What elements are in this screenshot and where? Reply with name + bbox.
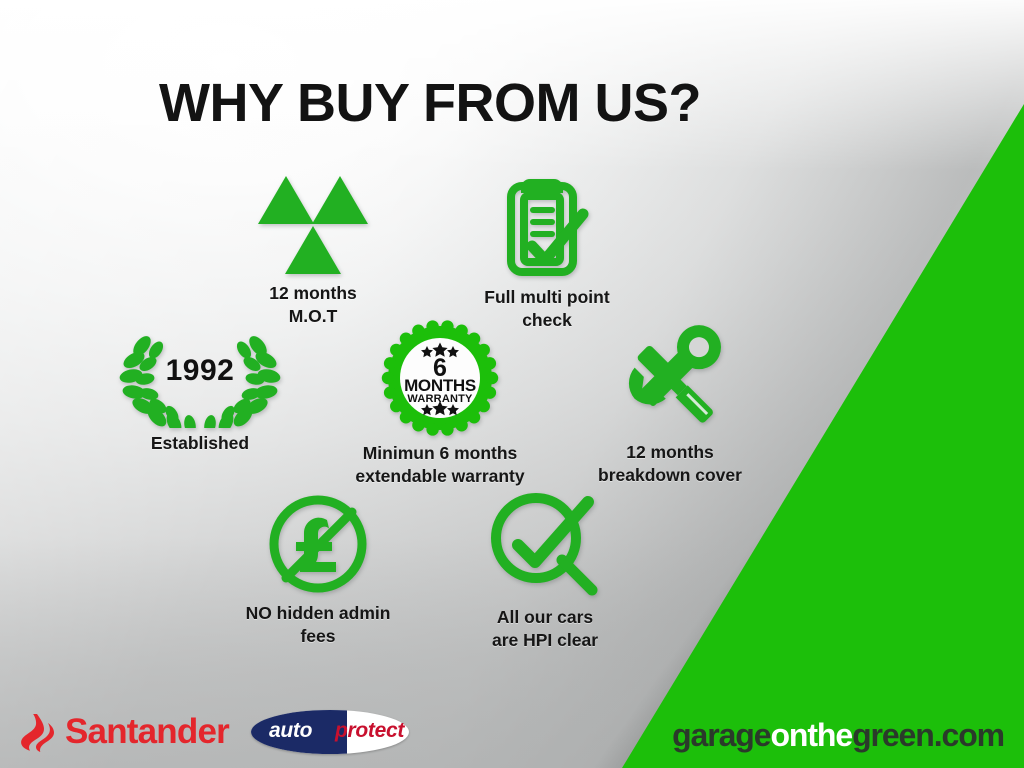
laurel-wreath-icon: 1992 bbox=[110, 328, 290, 428]
caption-line-1: Minimun 6 months bbox=[330, 442, 550, 465]
feature-hpi-clear: All our cars are HPI clear bbox=[450, 490, 640, 652]
santander-logo: Santander bbox=[16, 712, 229, 752]
feature-no-admin-fees-caption: NO hidden admin fees bbox=[218, 602, 418, 648]
page-title: WHY BUY FROM US? bbox=[0, 72, 860, 134]
website-part-green: green.com bbox=[852, 717, 1004, 753]
caption-line-1: All our cars bbox=[450, 606, 640, 629]
clipboard-check-icon bbox=[452, 174, 642, 282]
autoprotect-protect-text: protect bbox=[335, 719, 404, 743]
no-pound-fees-icon bbox=[218, 490, 418, 598]
feature-multi-point-check: Full multi point check bbox=[452, 174, 642, 332]
caption-line-1: 12 months bbox=[223, 282, 403, 305]
website-part-onthe: onthe bbox=[770, 717, 852, 753]
badge-word: WARRANTY bbox=[407, 393, 473, 405]
feature-breakdown-cover-caption: 12 months breakdown cover bbox=[560, 441, 780, 487]
caption-line-2: breakdown cover bbox=[560, 464, 780, 487]
feature-established: 1992 Established bbox=[110, 328, 290, 455]
circle-check-icon bbox=[450, 490, 640, 602]
santander-wordmark: Santander bbox=[65, 712, 229, 752]
feature-warranty: 6 MONTHS WARRANTY Minimun 6 months exten… bbox=[330, 318, 550, 488]
feature-breakdown-cover: 12 months breakdown cover bbox=[560, 322, 780, 487]
caption-line-2: extendable warranty bbox=[330, 465, 550, 488]
caption-line-1: Full multi point bbox=[452, 286, 642, 309]
autoprotect-logo: auto protect bbox=[251, 710, 409, 754]
wrench-screwdriver-icon bbox=[560, 322, 780, 437]
caption-line-1: Established bbox=[110, 432, 290, 455]
caption-line-1: 12 months bbox=[560, 441, 780, 464]
poster-canvas: WHY BUY FROM US? 12 months M.O.T bbox=[0, 0, 1024, 768]
website-part-garage: garage bbox=[672, 717, 770, 753]
feature-warranty-caption: Minimun 6 months extendable warranty bbox=[330, 442, 550, 488]
feature-established-caption: Established bbox=[110, 432, 290, 455]
caption-line-2: are HPI clear bbox=[450, 629, 640, 652]
caption-line-1: NO hidden admin bbox=[218, 602, 418, 625]
mot-triangles-icon bbox=[223, 172, 403, 278]
santander-flame-icon bbox=[16, 712, 58, 752]
autoprotect-auto-text: auto bbox=[269, 719, 312, 743]
feature-mot: 12 months M.O.T bbox=[223, 172, 403, 328]
caption-line-2: fees bbox=[218, 625, 418, 648]
warranty-badge-icon: 6 MONTHS WARRANTY bbox=[380, 318, 500, 438]
feature-hpi-clear-caption: All our cars are HPI clear bbox=[450, 606, 640, 652]
footer-partner-logos: Santander auto protect bbox=[16, 710, 409, 754]
website-wordmark: garageonthegreen.com bbox=[672, 717, 1004, 754]
feature-no-admin-fees: NO hidden admin fees bbox=[218, 490, 418, 648]
established-year: 1992 bbox=[110, 354, 290, 388]
